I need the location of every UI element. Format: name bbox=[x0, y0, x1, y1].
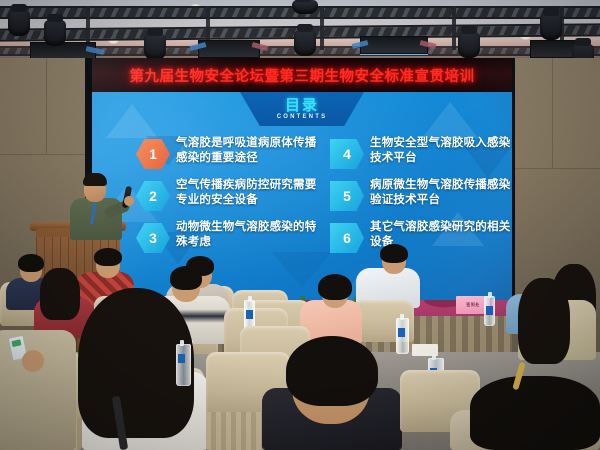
water-bottle bbox=[396, 318, 409, 354]
toc-item-label: 气溶胶是呼吸道病原体传播感染的重要途径 bbox=[176, 136, 326, 166]
spotlight-fixture bbox=[144, 34, 166, 60]
water-bottle bbox=[176, 344, 191, 386]
speaker-hand bbox=[124, 196, 134, 206]
spotlight-fixture bbox=[292, 0, 318, 14]
toc-item-6[interactable]: 6 其它气溶胶感染研究的相关设备 bbox=[330, 220, 512, 260]
toc-item-number: 4 bbox=[330, 139, 364, 169]
toc-item-3[interactable]: 3 动物微生物气溶胶感染的特殊考虑 bbox=[136, 220, 326, 260]
toc-item-number: 2 bbox=[136, 181, 170, 211]
hexagon-badge-1: 1 bbox=[136, 139, 170, 169]
attendee-hair bbox=[18, 254, 44, 272]
led-screen: 第九届生物安全论坛暨第三期生物安全标准宣贯培训 目录 CONTENTS 1 bbox=[92, 58, 512, 316]
event-title-text: 第九届生物安全论坛暨第三期生物安全标准宣贯培训 bbox=[130, 65, 475, 86]
toc-item-4[interactable]: 4 生物安全型气溶胶吸入感染技术平台 bbox=[330, 136, 512, 176]
toc-column-right: 4 生物安全型气溶胶吸入感染技术平台 5 病原微生物气溶胶传播感染验证技术平台 … bbox=[330, 136, 512, 262]
spotlight-fixture bbox=[458, 32, 480, 58]
attendee-hair bbox=[470, 376, 600, 450]
speaker-hair bbox=[83, 173, 107, 186]
toc-item-label: 空气传播疾病防控研究需要专业的安全设备 bbox=[176, 178, 326, 208]
truss-post bbox=[452, 6, 456, 50]
toc-item-number: 6 bbox=[330, 223, 364, 253]
spotlight-fixture bbox=[294, 30, 316, 56]
toc-title: 目录 bbox=[240, 94, 364, 115]
toc-item-2[interactable]: 2 空气传播疾病防控研究需要专业的安全设备 bbox=[136, 178, 326, 218]
toc-subtitle: CONTENTS bbox=[240, 114, 364, 120]
stage-led-panel bbox=[360, 36, 428, 54]
toc-item-1[interactable]: 1 气溶胶是呼吸道病原体传播感染的重要途径 bbox=[136, 136, 326, 176]
toc-item-number: 5 bbox=[330, 181, 364, 211]
presentation-slide: 目录 CONTENTS 1 气溶胶是呼吸道病原体传播感染的重要途径 2 空气传播… bbox=[92, 92, 512, 316]
toc-item-5[interactable]: 5 病原微生物气溶胶传播感染验证技术平台 bbox=[330, 178, 512, 218]
attendee-hair bbox=[286, 336, 378, 406]
spotlight-fixture bbox=[540, 14, 562, 40]
toc-item-label: 动物微生物气溶胶感染的特殊考虑 bbox=[176, 220, 326, 250]
hexagon-badge-3: 3 bbox=[136, 223, 170, 253]
conference-room-photo: 第九届生物安全论坛暨第三期生物安全标准宣贯培训 目录 CONTENTS 1 bbox=[0, 0, 600, 450]
name-card-text: 签到处 bbox=[466, 302, 480, 308]
hexagon-badge-2: 2 bbox=[136, 181, 170, 211]
toc-item-number: 3 bbox=[136, 223, 170, 253]
toc-item-number: 1 bbox=[136, 139, 170, 169]
attendee-hair bbox=[94, 248, 122, 266]
truss-post bbox=[320, 6, 324, 50]
toc-item-label: 病原微生物气溶胶传播感染验证技术平台 bbox=[370, 178, 512, 208]
attendee-hair bbox=[318, 274, 352, 300]
toc-column-left: 1 气溶胶是呼吸道病原体传播感染的重要途径 2 空气传播疾病防控研究需要专业的安… bbox=[136, 136, 326, 262]
attendee-hair bbox=[380, 244, 408, 263]
stage-led-panel bbox=[198, 40, 260, 58]
attendee-hair bbox=[170, 266, 202, 290]
toc-item-label: 生物安全型气溶胶吸入感染技术平台 bbox=[370, 136, 512, 166]
attendee-hair bbox=[518, 278, 570, 364]
attendee-hair bbox=[40, 268, 80, 320]
hexagon-badge-6: 6 bbox=[330, 223, 364, 253]
attendee-hand bbox=[22, 350, 44, 372]
hexagon-badge-4: 4 bbox=[330, 139, 364, 169]
spotlight-fixture bbox=[8, 10, 30, 36]
spotlight-fixture bbox=[44, 20, 66, 46]
event-title-banner: 第九届生物安全论坛暨第三期生物安全标准宣贯培训 bbox=[92, 58, 512, 92]
hexagon-badge-5: 5 bbox=[330, 181, 364, 211]
